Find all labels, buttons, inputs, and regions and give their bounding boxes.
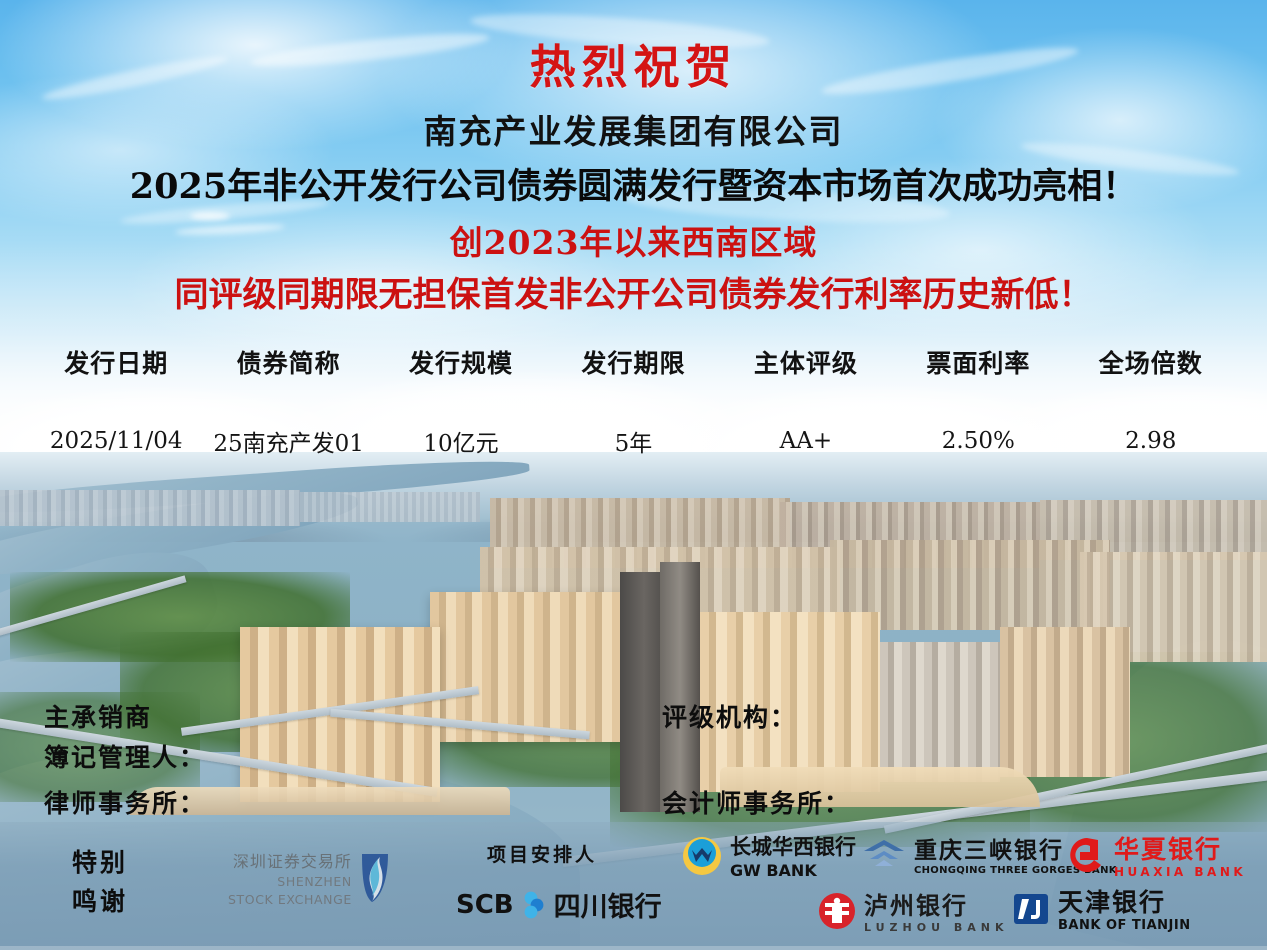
accounting-firm-label: 会计师事务所： [662,784,851,820]
table-header-row: 发行日期 债券简称 发行规模 发行期限 主体评级 票面利率 全场倍数 [30,344,1237,386]
law-firm-label: 律师事务所： [44,784,206,820]
col-header-issue-date: 发行日期 [30,344,202,386]
luzhou-emblem-icon [818,892,856,935]
bond-summary-table: 发行日期 债券简称 发行规模 发行期限 主体评级 票面利率 全场倍数 2025/… [0,344,1267,458]
tianjin-emblem-icon [1012,890,1050,933]
col-header-subscription: 全场倍数 [1065,344,1237,386]
szse-name-en-2: STOCK EXCHANGE [228,892,352,908]
cell-issuer-rating: AA+ [720,386,892,458]
arranger-label: 项目安排人 [487,840,597,867]
special-thanks-label: 特别 鸣谢 [72,844,128,922]
col-header-bond-name: 债券简称 [202,344,374,386]
cell-subscription: 2.98 [1065,386,1237,458]
table-row: 2025/11/04 25南充产发01 10亿元 5年 AA+ 2.50% 2.… [30,386,1237,458]
special-thanks-line1: 特别 [72,844,128,883]
rating-agency-label: 评级机构： [662,698,797,734]
scb-emblem-icon [521,890,547,920]
szse-name-cn: 深圳证券交易所 [228,848,352,872]
tianjin-name-en: BANK OF TIANJIN [1058,918,1191,933]
lead-underwriter-label-line2: 簿记管理人： [44,738,206,774]
huaxia-bank-logo: 华夏银行 HUAXIA BANK [1068,836,1246,879]
special-thanks-line2: 鸣谢 [72,883,128,922]
cell-tenor: 5年 [547,386,719,458]
sichuan-bank-logo: SCB 四川银行 [456,885,662,924]
company-name: 南充产业发展集团有限公司 [0,113,1267,151]
lead-underwriter-label-line1: 主承销商 [44,698,152,734]
cell-issue-date: 2025/11/04 [30,386,202,458]
congratulatory-poster: 热烈祝贺 南充产业发展集团有限公司 2025年非公开发行公司债券圆满发行暨资本市… [0,0,1267,950]
col-header-tenor: 发行期限 [547,344,719,386]
three-gorges-emblem-icon [862,838,906,877]
partners-block: 主承销商 簿记管理人： 律师事务所： 评级机构： 会计师事务所： 粤开证券股份有… [0,690,1267,830]
headline-block: 热烈祝贺 南充产业发展集团有限公司 2025年非公开发行公司债券圆满发行暨资本市… [0,0,1267,315]
huaxia-emblem-icon [1068,836,1106,879]
bank-of-tianjin-logo: 天津银行 BANK OF TIANJIN [1012,890,1191,933]
huaxia-name-cn: 华夏银行 [1114,837,1246,862]
col-header-issue-size: 发行规模 [375,344,547,386]
special-thanks-block: 特别 鸣谢 项目安排人 深圳证券交易所 SHENZHEN STOCK EXCHA… [0,830,1267,950]
huaxia-name-en: HUAXIA BANK [1114,865,1246,879]
gw-bank-name-en: GW BANK [730,861,856,880]
shenzhen-stock-exchange-logo: 深圳证券交易所 SHENZHEN STOCK EXCHANGE [228,848,392,907]
subheadline-one: 创2023年以来西南区域 [0,224,1267,262]
szse-name-en-1: SHENZHEN [228,874,352,890]
tianjin-name-cn: 天津银行 [1058,890,1191,915]
main-headline: 2025年非公开发行公司债券圆满发行暨资本市场首次成功亮相！ [0,167,1267,207]
scb-name-en: SCB [456,890,514,920]
luzhou-bank-logo: 泸州银行 LUZHOU BANK [818,892,1008,935]
gw-bank-emblem-icon [682,836,722,881]
congrats-title: 热烈祝贺 [0,42,1267,93]
luzhou-name-en: LUZHOU BANK [864,921,1008,934]
cell-bond-name: 25南充产发01 [202,386,374,458]
szse-emblem-icon [358,852,392,904]
gw-bank-name-cn: 长城华西银行 [730,837,856,858]
scb-name-cn: 四川银行 [554,885,662,924]
col-header-issuer-rating: 主体评级 [720,344,892,386]
gw-bank-logo: 长城华西银行 GW BANK [682,836,856,881]
cell-coupon-rate: 2.50% [892,386,1064,458]
luzhou-name-cn: 泸州银行 [864,894,1008,918]
subheadline-two: 同评级同期限无担保首发非公开公司债券发行利率历史新低！ [0,276,1267,315]
cell-issue-size: 10亿元 [375,386,547,458]
col-header-coupon-rate: 票面利率 [892,344,1064,386]
